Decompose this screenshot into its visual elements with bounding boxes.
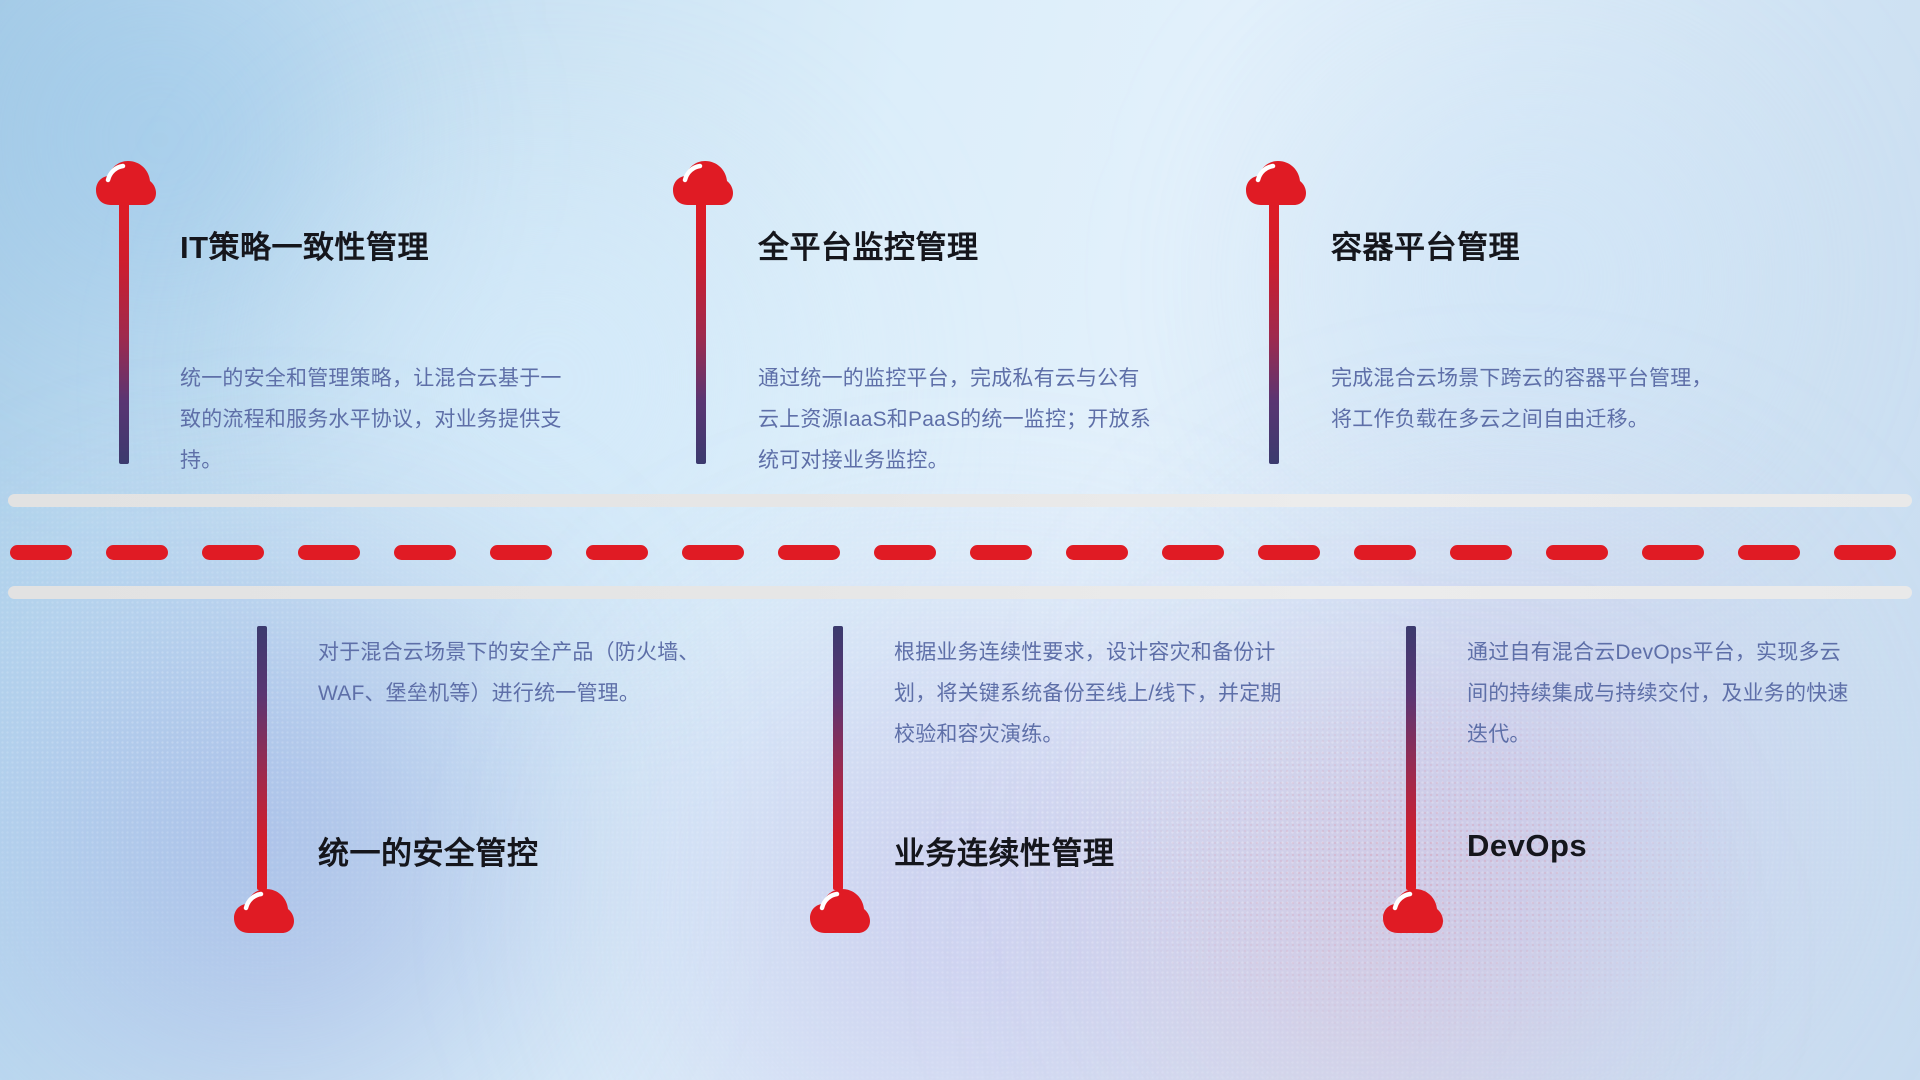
connector-stem [1406,626,1416,890]
dash-segment [1738,545,1800,560]
card-heading: IT策略一致性管理 [180,222,429,267]
card-body: 通过统一的监控平台，完成私有云与公有云上资源IaaS和PaaS的统一监控；开放系… [758,358,1158,481]
dash-segment [490,545,552,560]
card-heading: 业务连续性管理 [894,828,1115,873]
dash-segment [202,545,264,560]
dashed-separator [0,544,1920,560]
cloud-icon [233,888,295,934]
card-heading: 统一的安全管控 [318,828,539,873]
connector-stem [257,626,267,890]
cloud-icon [809,888,871,934]
dash-segment [586,545,648,560]
dash-segment [1162,545,1224,560]
dash-segment [106,545,168,560]
card-body: 完成混合云场景下跨云的容器平台管理，将工作负载在多云之间自由迁移。 [1331,358,1731,440]
card-body: 通过自有混合云DevOps平台，实现多云间的持续集成与持续交付，及业务的快速迭代… [1467,632,1857,755]
dash-segment [1834,545,1896,560]
divider-bar-top [8,494,1912,507]
dash-segment [298,545,360,560]
dash-segment [1258,545,1320,560]
card-body: 统一的安全和管理策略，让混合云基于一致的流程和服务水平协议，对业务提供支持。 [180,358,580,481]
card-body: 对于混合云场景下的安全产品（防火墙、WAF、堡垒机等）进行统一管理。 [318,632,718,714]
dash-segment [1642,545,1704,560]
connector-stem [1269,200,1279,464]
dash-segment [1354,545,1416,560]
dash-segment [1066,545,1128,560]
dash-segment [394,545,456,560]
cloud-icon [1382,888,1444,934]
infographic-canvas: IT策略一致性管理 统一的安全和管理策略，让混合云基于一致的流程和服务水平协议，… [0,0,1920,1080]
connector-stem [833,626,843,890]
connector-stem [696,200,706,464]
card-heading: DevOps [1467,828,1587,864]
connector-stem [119,200,129,464]
dash-segment [970,545,1032,560]
dash-segment [874,545,936,560]
card-heading: 容器平台管理 [1331,222,1520,267]
divider-bar-bottom [8,586,1912,599]
dash-segment [1450,545,1512,560]
dash-segment [10,545,72,560]
card-heading: 全平台监控管理 [758,222,979,267]
dash-segment [1546,545,1608,560]
dash-segment [778,545,840,560]
dash-segment [682,545,744,560]
card-body: 根据业务连续性要求，设计容灾和备份计划，将关键系统备份至线上/线下，并定期校验和… [894,632,1294,755]
